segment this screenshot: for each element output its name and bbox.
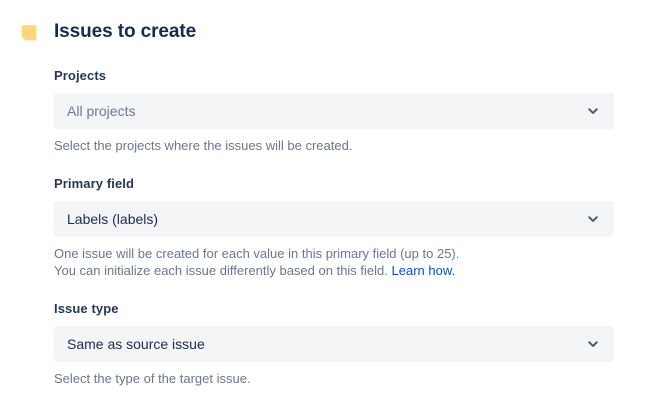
page-title: Issues to create [54,20,196,44]
issues-to-create-panel: Issues to create Projects All projects S… [0,0,651,416]
primary-field-select[interactable]: Labels (labels) [54,201,614,237]
helper-line: One issue will be created for each value… [54,245,614,262]
chevron-down-icon [582,100,604,122]
field-label-projects: Projects [54,68,614,84]
chevron-down-icon [582,208,604,230]
helper-line: Select the type of the target issue. [54,370,614,387]
helper-line: Select the projects where the issues wil… [54,137,614,154]
field-group-primary-field: Primary field Labels (labels) One issue … [54,176,614,279]
field-group-issue-type: Issue type Same as source issue Select t… [54,301,614,387]
field-label-issue-type: Issue type [54,301,614,317]
helper-text: You can initialize each issue differentl… [54,263,392,278]
chevron-down-icon [582,333,604,355]
issue-type-select[interactable]: Same as source issue [54,326,614,362]
projects-helper-text: Select the projects where the issues wil… [54,137,614,154]
automation-wedge-icon [19,23,39,43]
field-label-primary-field: Primary field [54,176,614,192]
field-group-projects: Projects All projects Select the project… [54,68,614,154]
panel-header: Issues to create [0,0,651,47]
issue-type-helper-text: Select the type of the target issue. [54,370,614,387]
primary-field-helper-text: One issue will be created for each value… [54,245,614,279]
primary-field-select-value: Labels (labels) [55,209,582,229]
learn-how-link[interactable]: Learn how. [392,263,456,278]
projects-select-value: All projects [55,101,582,121]
helper-line: You can initialize each issue differentl… [54,262,614,279]
projects-select[interactable]: All projects [54,93,614,129]
form-body: Projects All projects Select the project… [0,47,651,387]
issue-type-select-value: Same as source issue [55,334,582,354]
